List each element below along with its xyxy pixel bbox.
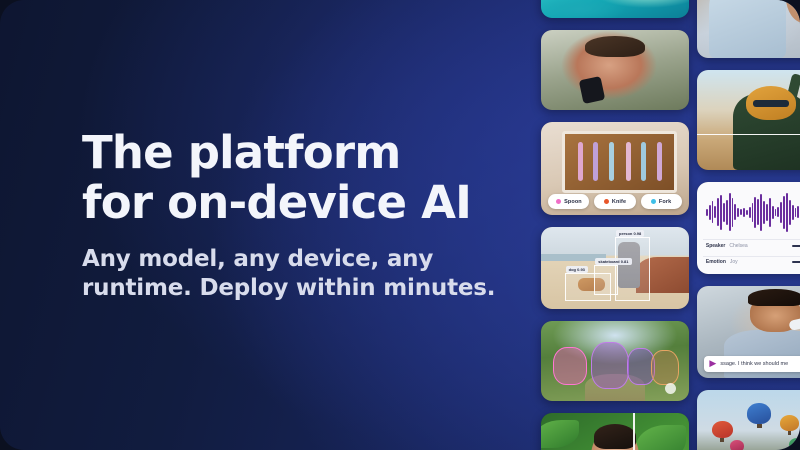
waveform-bar-16 — [752, 203, 754, 222]
chip-label-fork: Fork — [659, 199, 671, 205]
emotion-meter — [792, 261, 800, 263]
balloon-2 — [747, 403, 771, 423]
utensil-6 — [657, 142, 662, 181]
hug-scene-image — [697, 0, 800, 58]
transcript-bar[interactable]: ▶ ssage. I think we should me — [704, 356, 800, 372]
segmentation-mask-2 — [591, 342, 629, 389]
card-dog-segmentation[interactable] — [541, 321, 689, 401]
waveform-bar-31 — [795, 208, 797, 216]
gallery-column-left: Spoon Knife Fork — [541, 0, 689, 450]
waveform-bar-32 — [797, 206, 799, 218]
segmentation-mask-4 — [651, 350, 680, 386]
segmentation-mask-1 — [553, 347, 588, 386]
leaf-shape-1 — [541, 420, 579, 449]
waveform-bar-13 — [743, 208, 745, 216]
card-desert-selfie[interactable] — [697, 70, 800, 170]
bounding-box-label-skateboard: skateboard 0.81 — [595, 258, 631, 265]
phone-shape — [579, 76, 606, 104]
waveform-bar-21 — [766, 204, 768, 221]
card-man-with-phone[interactable] — [541, 30, 689, 110]
balloons-image — [697, 390, 800, 450]
hair-shape — [585, 36, 644, 57]
drawer-shape — [562, 131, 678, 193]
chip-color-dot-knife — [604, 199, 609, 204]
emotion-label: Emotion — [706, 259, 726, 265]
utensil-4 — [626, 142, 631, 181]
card-aerial-water[interactable] — [541, 0, 689, 18]
utensil-1 — [578, 142, 583, 181]
horizon-detection-line — [697, 134, 800, 135]
waveform-bar-26 — [780, 202, 782, 223]
balloon-6 — [789, 438, 800, 450]
chip-label-spoon: Spoon — [564, 199, 582, 205]
page-title: The platform for on-device AI — [82, 128, 512, 229]
waveform-visualization[interactable] — [706, 191, 800, 233]
bounding-box-dog: dog 0.93 — [565, 273, 611, 301]
card-audio-analysis[interactable]: Speaker Chelsea Emotion Joy — [697, 182, 800, 274]
card-hot-air-balloons[interactable] — [697, 390, 800, 450]
gallery-column-right: Speaker Chelsea Emotion Joy — [697, 0, 800, 450]
card-plant-person-split[interactable] — [541, 413, 689, 450]
balloon-5 — [730, 440, 745, 450]
waveform-bar-29 — [789, 200, 791, 225]
balloon-1 — [712, 421, 733, 438]
waveform-bar-12 — [740, 209, 742, 215]
chip-spoon[interactable]: Spoon — [548, 194, 589, 209]
bounding-box-person: person 0.98 — [615, 237, 650, 301]
waveform-bar-1 — [709, 205, 711, 219]
waveform-bar-30 — [792, 205, 794, 220]
speaker-value: Chelsea — [729, 243, 747, 249]
headline-line-2: for on-device AI — [82, 178, 512, 228]
card-cutlery-classification[interactable]: Spoon Knife Fork — [541, 122, 689, 215]
waveform-bar-17 — [754, 197, 756, 228]
waveform-bar-20 — [763, 201, 765, 224]
chip-knife[interactable]: Knife — [594, 194, 635, 209]
waveform-bar-25 — [777, 207, 779, 217]
audio-meta-row-emotion: Emotion Joy — [706, 259, 800, 265]
waveform-bar-11 — [737, 208, 739, 217]
waveform-bar-5 — [720, 195, 722, 230]
waveform-bar-23 — [772, 206, 774, 219]
waveform-bar-4 — [717, 198, 719, 226]
headline-line-1: The platform — [82, 126, 400, 179]
utensil-2 — [593, 142, 598, 181]
child-shape — [786, 0, 800, 23]
card-voice-transcription[interactable]: ▶ ssage. I think we should me — [697, 286, 800, 378]
card-object-detection[interactable]: person 0.98 skateboard 0.81 dog 0.93 — [541, 227, 689, 309]
bounding-box-label-dog: dog 0.93 — [566, 266, 588, 273]
balloon-3 — [780, 415, 799, 431]
hero-subheading: Any model, any device, any runtime. Depl… — [82, 245, 512, 304]
divider-1 — [703, 239, 800, 240]
waveform-bar-8 — [729, 193, 731, 231]
waveform-bar-14 — [746, 210, 748, 215]
speaker-label: Speaker — [706, 243, 725, 249]
waveform-bar-10 — [734, 204, 736, 220]
waveform-bar-2 — [712, 201, 714, 223]
waveform-bar-0 — [706, 209, 708, 217]
divider-2 — [703, 256, 800, 257]
waveform-bar-24 — [775, 209, 777, 216]
desert-selfie-image — [697, 70, 800, 170]
audio-meta-row-speaker: Speaker Chelsea — [706, 243, 800, 249]
plant-person-image — [541, 413, 689, 450]
leaf-shape-3 — [636, 425, 686, 450]
aerial-water-image — [541, 0, 689, 18]
adult-shape — [709, 0, 786, 58]
chip-color-dot-spoon — [556, 199, 561, 204]
play-icon[interactable]: ▶ — [709, 359, 716, 368]
split-divider-line[interactable] — [633, 413, 635, 450]
image-card-gallery: Spoon Knife Fork — [532, 0, 800, 450]
waveform-bar-6 — [723, 203, 725, 222]
subheading-line-1: Any model, any device, any — [82, 246, 433, 272]
waveform-bar-9 — [732, 198, 734, 228]
chip-color-dot-fork — [651, 199, 656, 204]
classification-chip-row: Spoon Knife Fork — [548, 194, 681, 209]
transcript-text: ssage. I think we should me — [720, 361, 788, 367]
utensil-3 — [609, 142, 614, 181]
waveform-bar-18 — [757, 199, 759, 225]
chip-label-knife: Knife — [612, 199, 626, 205]
hero-banner: The platform for on-device AI Any model,… — [0, 0, 800, 450]
subheading-line-2: runtime. Deploy within minutes. — [82, 274, 512, 303]
speaker-meter — [792, 245, 800, 247]
waveform-bar-7 — [726, 200, 728, 225]
waveform-bar-15 — [749, 207, 751, 218]
hero-copy: The platform for on-device AI Any model,… — [82, 128, 512, 304]
waveform-bar-22 — [769, 198, 771, 227]
utensil-5 — [641, 142, 646, 181]
segmentation-toggle-dot[interactable] — [665, 383, 676, 394]
man-with-phone-image — [541, 30, 689, 110]
chip-fork[interactable]: Fork — [641, 194, 682, 209]
audio-analysis-panel: Speaker Chelsea Emotion Joy — [697, 182, 800, 274]
emotion-value: Joy — [730, 259, 738, 265]
beach-scene-image: person 0.98 skateboard 0.81 dog 0.93 — [541, 227, 689, 309]
sunglasses-shape — [753, 100, 789, 107]
card-face-detection[interactable] — [697, 0, 800, 58]
waveform-bar-19 — [760, 194, 762, 230]
waveform-bar-3 — [714, 206, 716, 218]
waveform-bar-27 — [783, 196, 785, 229]
bounding-box-label-person: person 0.98 — [616, 230, 644, 237]
dogs-running-image — [541, 321, 689, 401]
face-shape — [591, 428, 638, 450]
waveform-bar-28 — [786, 193, 788, 232]
